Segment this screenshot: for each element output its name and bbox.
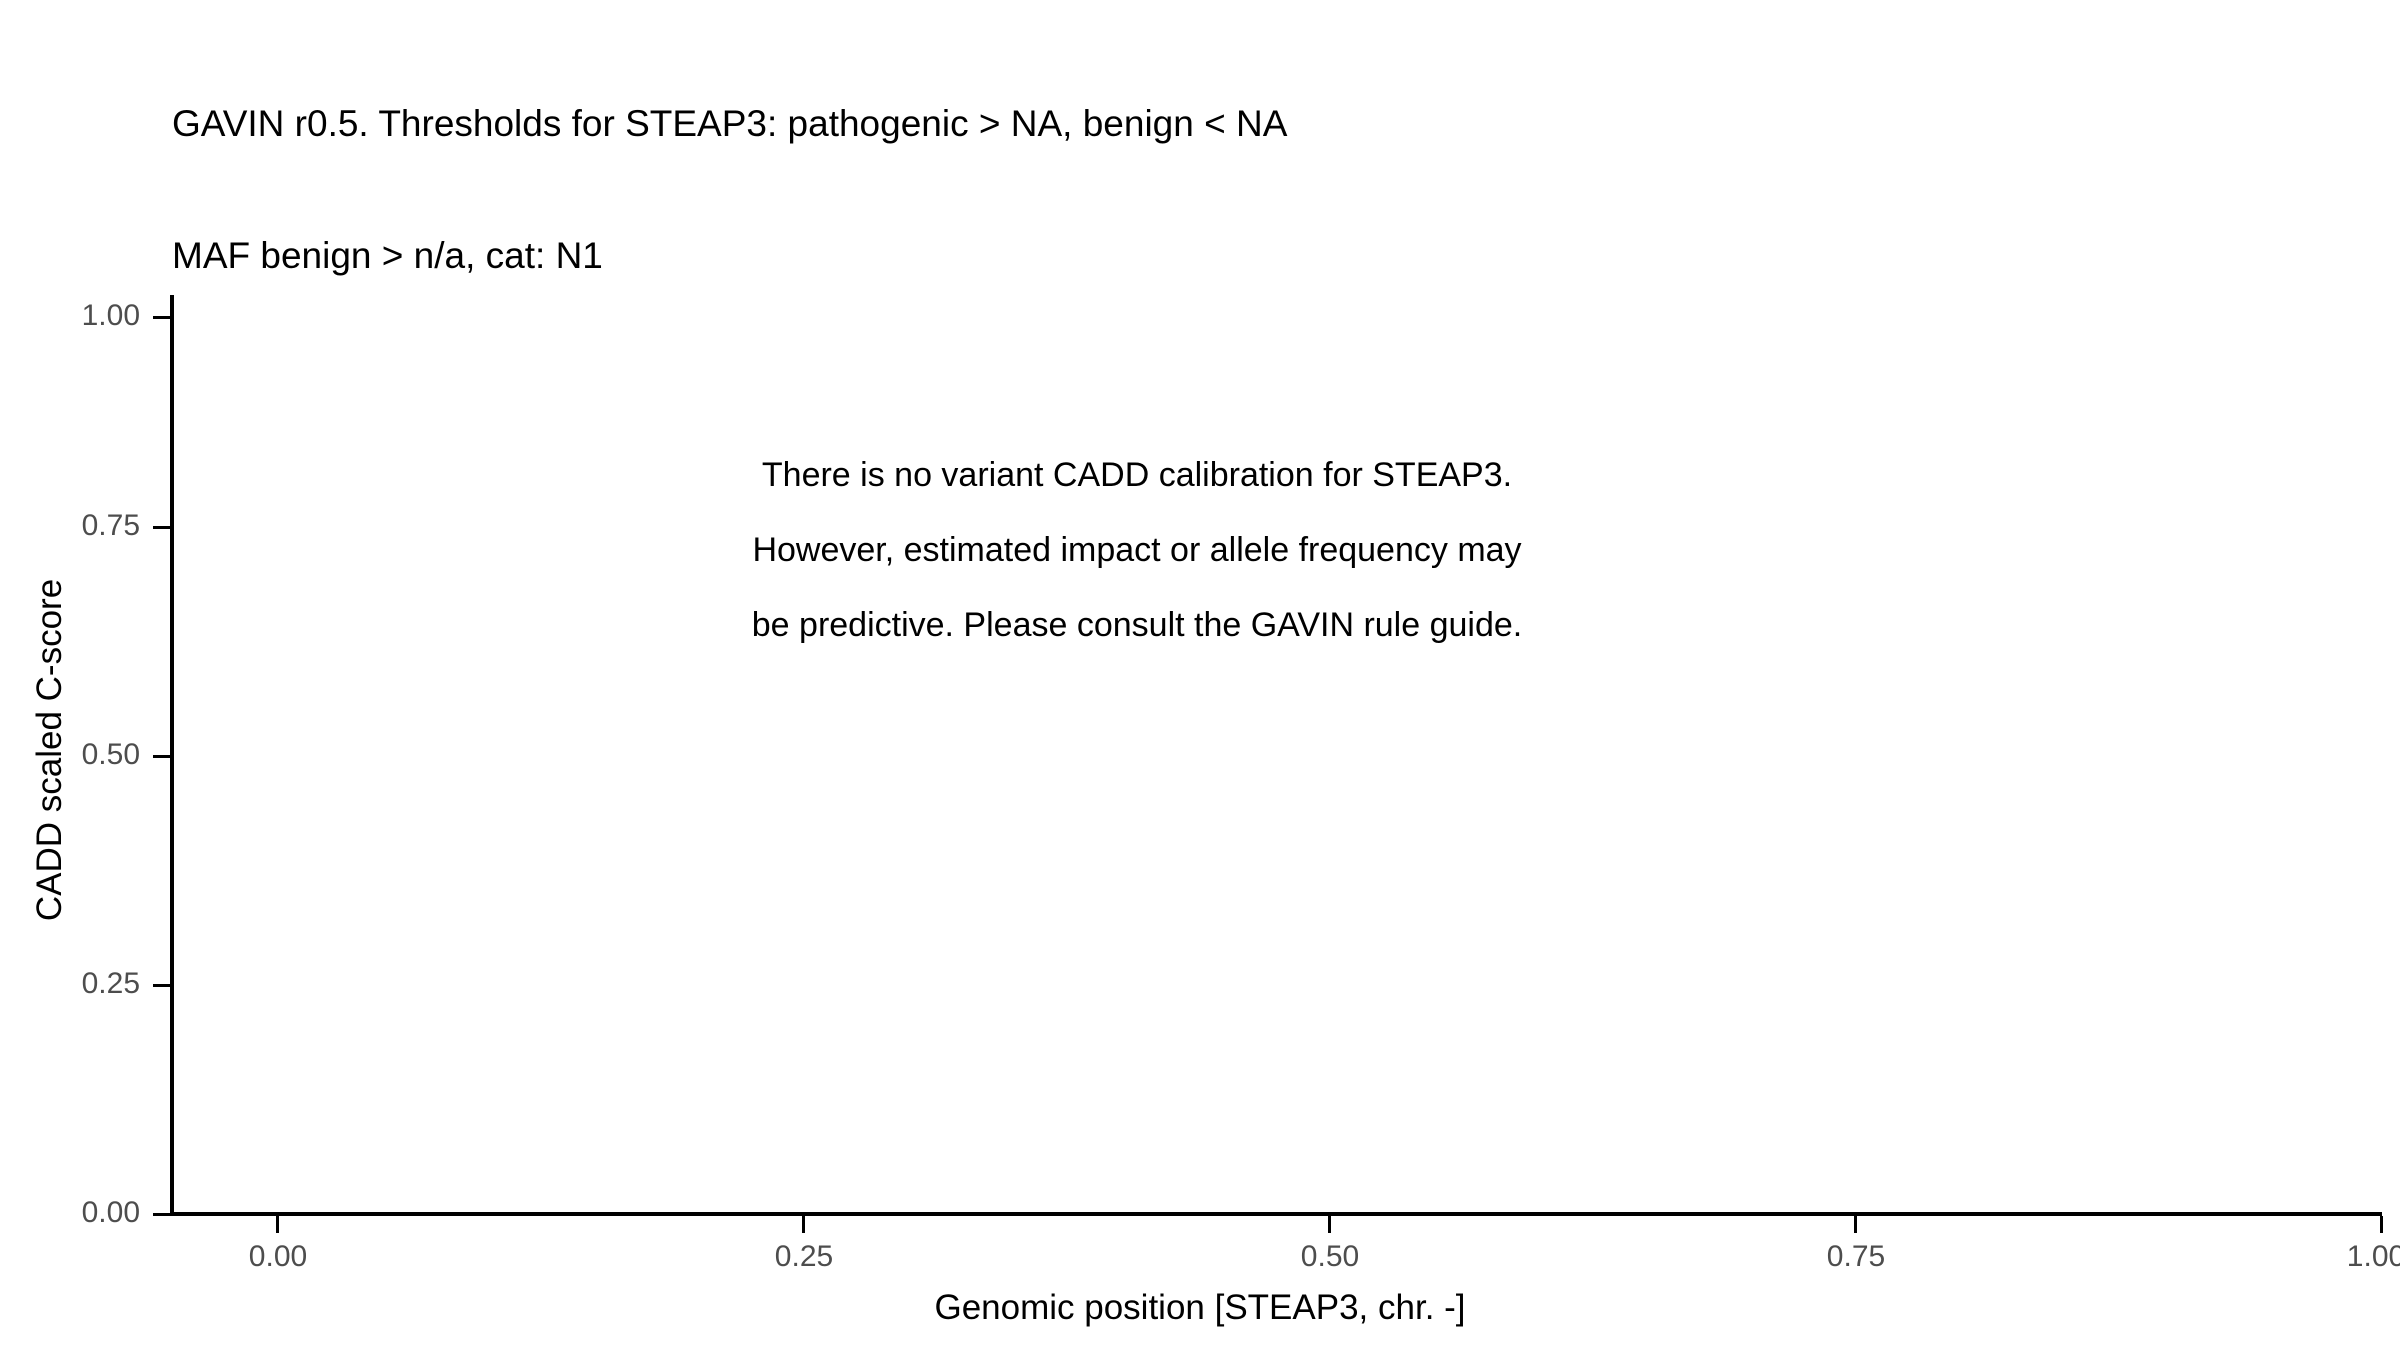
x-axis-tick-2	[1328, 1216, 1331, 1233]
x-axis-tick-4	[2380, 1216, 2383, 1233]
x-axis-ticklabel-0: 0.00	[249, 1240, 307, 1274]
panel-annotation-line-2: However, estimated impact or allele freq…	[472, 513, 1802, 588]
y-axis-tick-4	[153, 316, 170, 319]
y-axis-title: CADD scaled C-score	[30, 280, 70, 1220]
plot-panel	[172, 297, 2381, 1214]
x-axis-tick-3	[1854, 1216, 1857, 1233]
panel-annotation-line-3: be predictive. Please consult the GAVIN …	[472, 588, 1802, 663]
plot-canvas: GAVIN r0.5. Thresholds for STEAP3: patho…	[0, 0, 2400, 1350]
y-axis-line	[170, 295, 174, 1216]
panel-annotation: There is no variant CADD calibration for…	[472, 438, 1802, 663]
y-axis-tick-1	[153, 984, 170, 987]
x-axis-tick-1	[802, 1216, 805, 1233]
x-axis-ticklabel-3: 0.75	[1827, 1240, 1885, 1274]
x-axis-line	[170, 1212, 2382, 1216]
y-axis-tick-3	[153, 526, 170, 529]
x-axis-ticklabel-4: 1.00	[2347, 1240, 2400, 1274]
y-axis-tick-2	[153, 755, 170, 758]
y-axis-tick-0	[153, 1213, 170, 1216]
x-axis-title: Genomic position [STEAP3, chr. -]	[0, 1288, 2400, 1328]
x-axis-ticklabel-1: 0.25	[775, 1240, 833, 1274]
plot-title-line-2: MAF benign > n/a, cat: N1	[172, 234, 2272, 278]
x-axis-ticklabel-2: 0.50	[1301, 1240, 1359, 1274]
x-axis-tick-0	[276, 1216, 279, 1233]
panel-annotation-line-1: There is no variant CADD calibration for…	[472, 438, 1802, 513]
plot-title-line-1: GAVIN r0.5. Thresholds for STEAP3: patho…	[172, 102, 2272, 146]
